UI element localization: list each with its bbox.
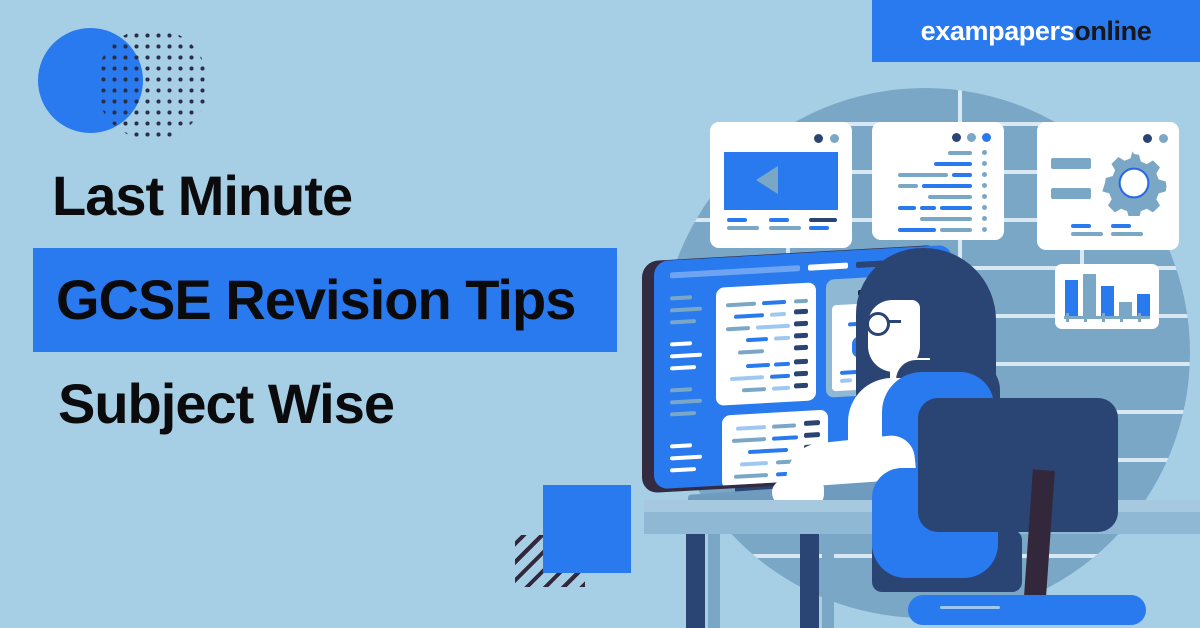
headline-block: Last Minute GCSE Revision Tips Subject W…	[0, 168, 640, 432]
play-triangle-icon[interactable]	[756, 166, 778, 194]
desk-leg	[708, 534, 720, 628]
window-dot-icon	[814, 134, 823, 143]
chart-bar	[1101, 286, 1114, 316]
window-dot-icon	[952, 133, 961, 142]
desk-leg	[686, 534, 705, 628]
window-dot-icon	[967, 133, 976, 142]
desk-leg	[800, 534, 819, 628]
glasses-icon	[887, 320, 901, 323]
window-dot-icon	[1159, 134, 1168, 143]
hero-illustration	[600, 0, 1200, 628]
window-dot-icon	[830, 134, 839, 143]
window-dot-icon	[982, 133, 991, 142]
headline-line-1: Last Minute	[0, 168, 640, 224]
window-dot-icon	[1143, 134, 1152, 143]
poster-canvas: exampapersonline Last Minute GCSE Revisi…	[0, 0, 1200, 628]
video-player-card[interactable]	[710, 122, 852, 248]
glasses-icon	[866, 312, 890, 336]
settings-card[interactable]	[1037, 122, 1179, 250]
headline-line-2: GCSE Revision Tips	[33, 272, 575, 328]
chart-bar	[1065, 280, 1078, 316]
dotted-circle-shape	[96, 28, 208, 140]
desk-leg	[822, 534, 834, 628]
headline-line-3: Subject Wise	[0, 376, 640, 432]
headline-highlight-bar: GCSE Revision Tips	[33, 248, 617, 352]
code-editor-card[interactable]	[872, 122, 1004, 240]
decor-circle-group	[38, 28, 208, 140]
chair-backrest	[918, 398, 1118, 532]
video-preview-area	[724, 152, 838, 210]
monitor-code-panel	[716, 282, 816, 406]
chart-bar	[1083, 274, 1096, 316]
bar-chart-card[interactable]	[1055, 264, 1159, 329]
gear-icon[interactable]	[1101, 150, 1167, 216]
chair-base	[908, 595, 1146, 625]
chair-base-highlight	[940, 606, 1000, 609]
